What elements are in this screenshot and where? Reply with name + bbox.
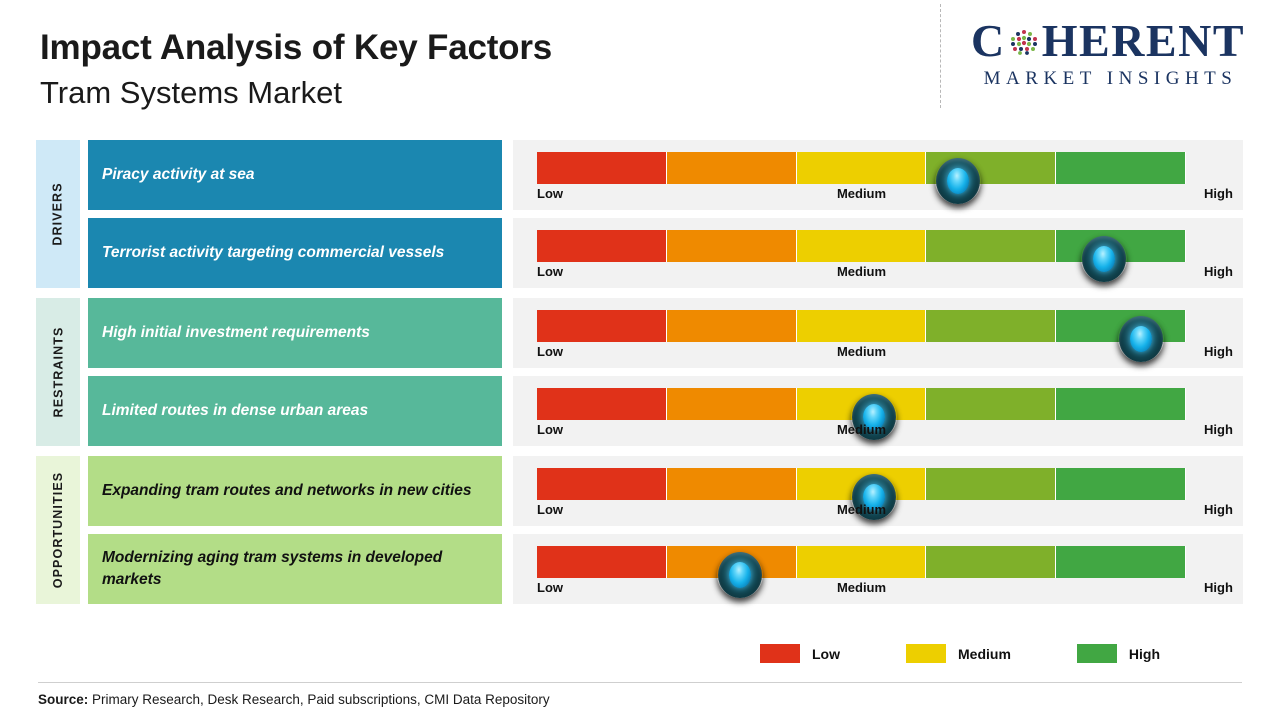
factor-box[interactable]: Piracy activity at sea bbox=[88, 140, 502, 210]
gauge-scale-labels: Low Medium High bbox=[537, 264, 1186, 286]
category-label-text: DRIVERS bbox=[51, 182, 65, 245]
gauge-bar[interactable] bbox=[537, 388, 1186, 420]
gauge-segment-mid bbox=[797, 546, 927, 578]
gauge-segment-mid-high bbox=[926, 468, 1056, 500]
category-label-text: OPPORTUNITIES bbox=[51, 472, 65, 588]
scale-label-medium: Medium bbox=[837, 422, 886, 437]
gauge-segment-low bbox=[537, 310, 667, 342]
scale-label-low: Low bbox=[537, 186, 563, 201]
gauge-bar[interactable] bbox=[537, 230, 1186, 262]
gauge-segment-high bbox=[1056, 468, 1186, 500]
category-label-restraints: RESTRAINTS bbox=[36, 298, 80, 446]
gauge-segment-mid bbox=[797, 230, 927, 262]
logo-wordmark: HERENT bbox=[1042, 18, 1245, 64]
scale-label-medium: Medium bbox=[837, 264, 886, 279]
legend-swatch-medium bbox=[906, 644, 946, 663]
scale-label-high: High bbox=[1204, 264, 1233, 279]
scale-label-high: High bbox=[1204, 344, 1233, 359]
factor-text: Piracy activity at sea bbox=[102, 164, 255, 186]
gauge-scale-labels: Low Medium High bbox=[537, 344, 1186, 366]
gauge-segment-mid bbox=[797, 152, 927, 184]
factor-text: Expanding tram routes and networks in ne… bbox=[102, 480, 472, 502]
company-logo: C bbox=[958, 18, 1258, 90]
category-label-opportunities: OPPORTUNITIES bbox=[36, 456, 80, 604]
factor-text: Terrorist activity targeting commercial … bbox=[102, 242, 444, 264]
factor-text: Limited routes in dense urban areas bbox=[102, 400, 368, 422]
globe-icon bbox=[1007, 26, 1041, 60]
gauge-segment-low-mid bbox=[667, 152, 797, 184]
gauge-scale-labels: Low Medium High bbox=[537, 422, 1186, 444]
scale-label-high: High bbox=[1204, 580, 1233, 595]
gauge-scale-labels: Low Medium High bbox=[537, 186, 1186, 208]
legend-swatch-low bbox=[760, 644, 800, 663]
gauge-row: Low Medium High bbox=[513, 218, 1243, 288]
gauge-segment-low-mid bbox=[667, 230, 797, 262]
logo-letter-c: C bbox=[971, 18, 1006, 64]
gauge-segment-low bbox=[537, 230, 667, 262]
gauge-segment-mid-high bbox=[926, 388, 1056, 420]
legend: Low Medium High bbox=[760, 644, 1220, 663]
scale-label-low: Low bbox=[537, 580, 563, 595]
scale-label-low: Low bbox=[537, 264, 563, 279]
gauge-scale-labels: Low Medium High bbox=[537, 502, 1186, 524]
gauge-segment-mid-high bbox=[926, 310, 1056, 342]
gauge-segment-low-mid bbox=[667, 310, 797, 342]
scale-label-medium: Medium bbox=[837, 580, 886, 595]
gauge-bar[interactable] bbox=[537, 468, 1186, 500]
scale-label-low: Low bbox=[537, 422, 563, 437]
scale-label-medium: Medium bbox=[837, 502, 886, 517]
gauge-segment-low bbox=[537, 468, 667, 500]
scale-label-high: High bbox=[1204, 502, 1233, 517]
gauge-segment-low bbox=[537, 388, 667, 420]
logo-tagline: MARKET INSIGHTS bbox=[958, 68, 1258, 90]
footer-divider bbox=[38, 682, 1242, 683]
gauge-segment-low bbox=[537, 152, 667, 184]
page-subtitle: Tram Systems Market bbox=[40, 74, 552, 111]
source-note: Source: Primary Research, Desk Research,… bbox=[38, 692, 550, 707]
page-title: Impact Analysis of Key Factors bbox=[40, 28, 552, 68]
source-label: Source: bbox=[38, 692, 88, 707]
factor-box[interactable]: Expanding tram routes and networks in ne… bbox=[88, 456, 502, 526]
gauge-bar[interactable] bbox=[537, 310, 1186, 342]
scale-label-high: High bbox=[1204, 422, 1233, 437]
legend-label: Low bbox=[812, 646, 840, 662]
source-text: Primary Research, Desk Research, Paid su… bbox=[88, 692, 549, 707]
title-block: Impact Analysis of Key Factors Tram Syst… bbox=[40, 28, 552, 111]
gauge-segment-mid-high bbox=[926, 230, 1056, 262]
gauge-row: Low Medium High bbox=[513, 376, 1243, 446]
gauge-row: Low Medium High bbox=[513, 534, 1243, 604]
legend-item-medium: Medium bbox=[906, 644, 1011, 663]
gauge-segment-low-mid bbox=[667, 388, 797, 420]
legend-item-high: High bbox=[1077, 644, 1160, 663]
gauge-segment-low bbox=[537, 546, 667, 578]
legend-label: High bbox=[1129, 646, 1160, 662]
factor-box[interactable]: Limited routes in dense urban areas bbox=[88, 376, 502, 446]
factor-box[interactable]: Terrorist activity targeting commercial … bbox=[88, 218, 502, 288]
scale-label-high: High bbox=[1204, 186, 1233, 201]
gauge-segment-mid-high bbox=[926, 546, 1056, 578]
header: Impact Analysis of Key Factors Tram Syst… bbox=[0, 0, 1280, 132]
scale-label-low: Low bbox=[537, 344, 563, 359]
legend-label: Medium bbox=[958, 646, 1011, 662]
factor-box[interactable]: Modernizing aging tram systems in develo… bbox=[88, 534, 502, 604]
logo-divider bbox=[940, 4, 941, 108]
factor-box[interactable]: High initial investment requirements bbox=[88, 298, 502, 368]
gauge-segment-mid bbox=[797, 310, 927, 342]
scale-label-medium: Medium bbox=[837, 186, 886, 201]
legend-swatch-high bbox=[1077, 644, 1117, 663]
scale-label-low: Low bbox=[537, 502, 563, 517]
factor-text: Modernizing aging tram systems in develo… bbox=[102, 547, 488, 592]
gauge-segment-high bbox=[1056, 546, 1186, 578]
gauge-bar[interactable] bbox=[537, 152, 1186, 184]
category-label-drivers: DRIVERS bbox=[36, 140, 80, 288]
gauge-scale-labels: Low Medium High bbox=[537, 580, 1186, 602]
legend-item-low: Low bbox=[760, 644, 840, 663]
gauge-segment-high bbox=[1056, 152, 1186, 184]
factor-text: High initial investment requirements bbox=[102, 322, 370, 344]
gauge-row: Low Medium High bbox=[513, 298, 1243, 368]
gauge-row: Low Medium High bbox=[513, 140, 1243, 210]
scale-label-medium: Medium bbox=[837, 344, 886, 359]
gauge-bar[interactable] bbox=[537, 546, 1186, 578]
gauge-row: Low Medium High bbox=[513, 456, 1243, 526]
gauge-segment-high bbox=[1056, 388, 1186, 420]
category-label-text: RESTRAINTS bbox=[51, 327, 65, 418]
gauge-segment-low-mid bbox=[667, 468, 797, 500]
